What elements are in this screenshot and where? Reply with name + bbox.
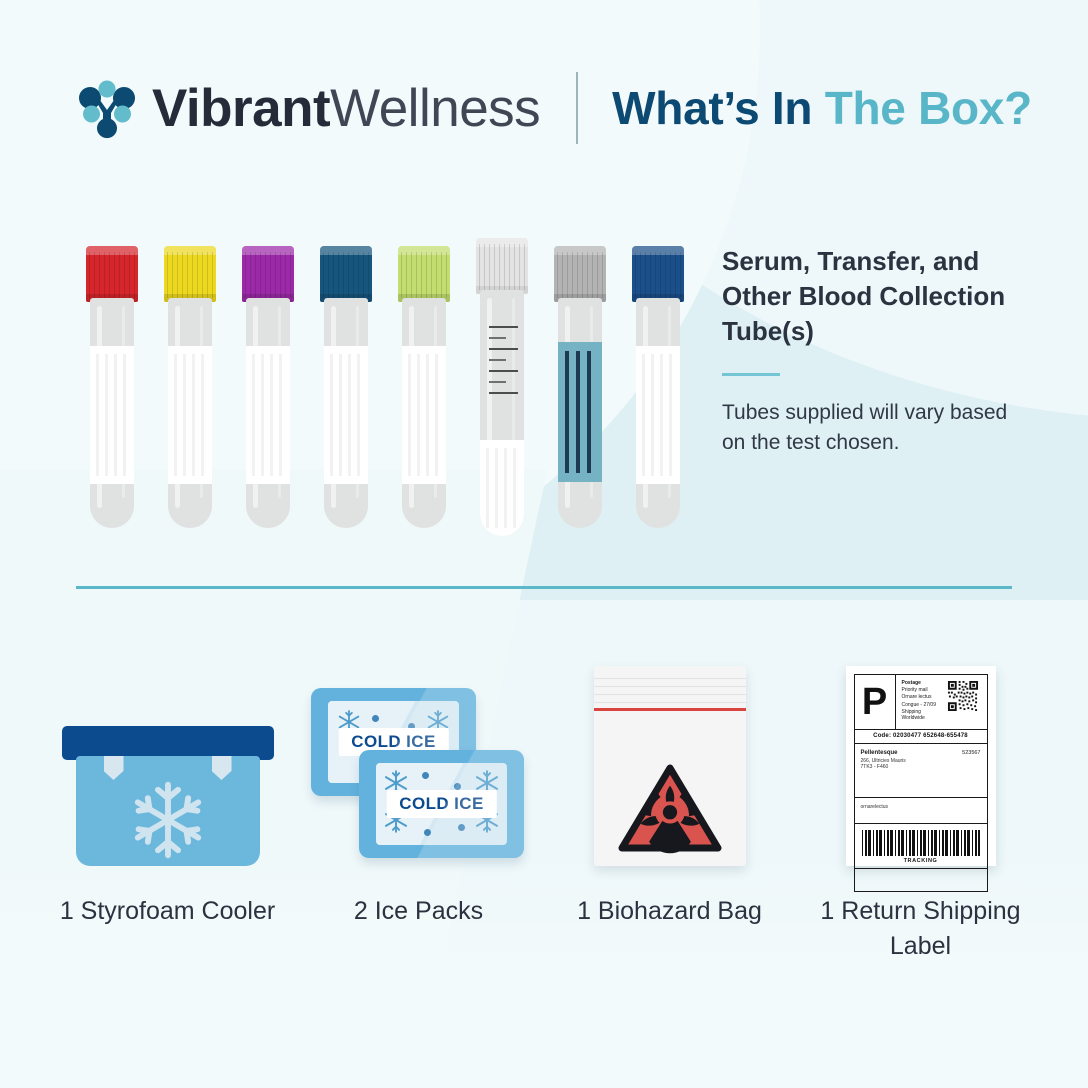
item-caption: 1 Return Shipping Label	[795, 894, 1046, 964]
label-footer-block	[854, 869, 988, 892]
blood-collection-tubes-group	[86, 228, 698, 528]
item-caption: 1 Styrofoam Cooler	[60, 894, 275, 929]
tube-body	[168, 298, 212, 528]
cooler-lid	[62, 726, 274, 760]
kit-item-biohazard-bag: 1 Biohazard Bag	[544, 648, 795, 964]
kit-contents-row: 1 Styrofoam Cooler	[42, 648, 1046, 964]
tube-cap	[242, 246, 294, 302]
postage-meta: Postage Priority mail Ornare lectus Cong…	[896, 675, 943, 729]
kit-item-cooler: 1 Styrofoam Cooler	[42, 648, 293, 964]
brand-name-light: Wellness	[330, 78, 540, 139]
tube-cap	[554, 246, 606, 302]
reference-number: 523567	[962, 750, 980, 756]
item-artwork	[544, 648, 795, 866]
light-green-cap-tube	[398, 246, 450, 528]
label-note-block: ornarelectus	[854, 798, 988, 824]
label-note: ornarelectus	[861, 804, 981, 810]
tubes-description: Serum, Transfer, and Other Blood Collect…	[722, 244, 1022, 458]
kit-item-shipping-label: P Postage Priority mail Ornare lectus Co…	[795, 648, 1046, 964]
tube-cap	[632, 246, 684, 302]
tube-graduation-marks	[489, 326, 518, 426]
red-cap-tube	[86, 246, 138, 528]
header-vertical-divider	[576, 72, 578, 144]
label-postage-block: P Postage Priority mail Ornare lectus Co…	[854, 674, 988, 730]
yellow-cap-tube	[164, 246, 216, 528]
tube-body	[324, 298, 368, 528]
tube-cap	[476, 238, 528, 294]
styrofoam-cooler-icon	[62, 726, 274, 866]
dark-teal-cap-tube	[320, 246, 372, 528]
tube-body	[90, 298, 134, 528]
item-artwork	[42, 648, 293, 866]
tube-body	[402, 298, 446, 528]
page-title-part-teal: The Box?	[825, 82, 1032, 134]
tubes-heading-rule	[722, 373, 780, 376]
tube-body	[246, 298, 290, 528]
ice-packs-icon: COLD ICE	[311, 688, 526, 866]
barcode-icon	[862, 830, 980, 856]
page-header: VibrantWellness What’s In The Box?	[76, 62, 1032, 154]
label-barcode-block: TRACKING	[854, 824, 988, 869]
molecule-trefoil-icon	[76, 77, 138, 139]
item-caption: 1 Biohazard Bag	[577, 894, 762, 929]
infographic-canvas: VibrantWellness What’s In The Box?	[0, 0, 1088, 1088]
tube-label	[168, 346, 212, 484]
tube-cap	[398, 246, 450, 302]
postage-mark: P	[855, 675, 896, 729]
item-artwork: P Postage Priority mail Ornare lectus Co…	[795, 648, 1046, 866]
postage-meta-line: Congue - 27/09	[902, 702, 939, 708]
tube-cap	[164, 246, 216, 302]
postage-meta-line: Ornare lectus	[902, 694, 939, 700]
tube-cap	[320, 246, 372, 302]
tube-body	[558, 298, 602, 528]
tube-label	[480, 440, 524, 536]
postage-meta-line: Priority mail	[902, 687, 939, 693]
ice-pack-front: COLD ICE	[359, 750, 524, 858]
item-artwork: COLD ICE	[293, 648, 544, 866]
tubes-heading: Serum, Transfer, and Other Blood Collect…	[722, 244, 1022, 349]
label-code-line: Code: 02030477 652648-655478	[854, 730, 988, 744]
tube-label	[324, 346, 368, 484]
section-divider	[76, 586, 1012, 589]
snowflake-icon	[126, 778, 210, 867]
return-shipping-label-icon: P Postage Priority mail Ornare lectus Co…	[846, 666, 996, 866]
postage-meta-line: Shipping Worldwide	[902, 709, 939, 721]
label-address-block: Pellentesque 266, Ultricies Mauris 7TK3 …	[854, 744, 988, 798]
tube-label	[90, 346, 134, 484]
postage-meta-line: Postage	[902, 680, 939, 686]
tube-label	[246, 346, 290, 484]
tube-cap	[86, 246, 138, 302]
tracking-label: TRACKING	[862, 856, 980, 866]
page-title-part-dark: What’s In	[612, 82, 812, 134]
brand-wordmark: VibrantWellness	[152, 78, 540, 139]
navy-cap-tube	[632, 246, 684, 528]
page-title: What’s In The Box?	[612, 81, 1032, 135]
gray-cap-tube	[554, 246, 606, 528]
tube-body	[480, 290, 524, 536]
tube-body	[636, 298, 680, 528]
purple-cap-tube	[242, 246, 294, 528]
tubes-subtext: Tubes supplied will vary based on the te…	[722, 398, 1022, 458]
tube-label	[402, 346, 446, 484]
biohazard-icon	[618, 762, 722, 859]
qr-code-icon	[943, 675, 987, 729]
bag-seal-stripe	[594, 708, 746, 711]
kit-item-ice-packs: COLD ICE	[293, 648, 544, 964]
brand-name-bold: Vibrant	[152, 78, 330, 139]
address-line: 7TK3 - F460	[861, 764, 981, 770]
biohazard-bag-icon	[594, 666, 746, 866]
tube-filled-label	[558, 342, 602, 482]
tube-label	[636, 346, 680, 484]
item-caption: 2 Ice Packs	[354, 894, 483, 929]
clear-cap-tube	[476, 238, 528, 536]
